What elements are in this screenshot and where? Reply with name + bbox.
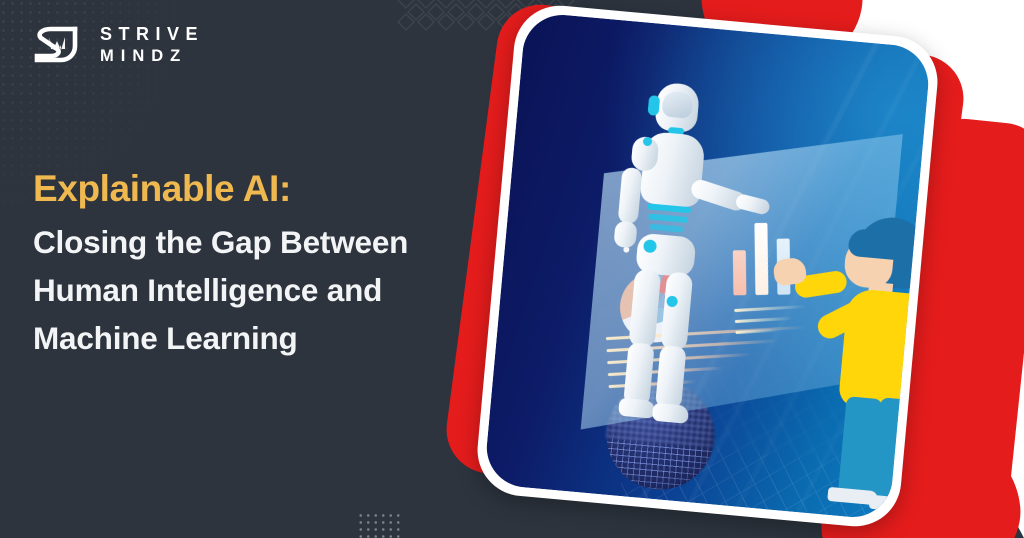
blog-banner: STRIVE MINDZ Explainable AI: Closing the… [0, 0, 1024, 538]
logo-wordmark: STRIVE MINDZ [100, 25, 204, 65]
card-inner-scene [483, 12, 931, 521]
brand-logo[interactable]: STRIVE MINDZ [31, 24, 204, 66]
headline-lead: Explainable AI: [33, 166, 483, 211]
page-title: Explainable AI: Closing the Gap Between … [33, 166, 483, 363]
strive-mindz-sm-monogram-icon [31, 24, 87, 66]
ai-explainability-illustration [474, 2, 942, 530]
logo-line-mindz: MINDZ [100, 48, 204, 65]
logo-line-strive: STRIVE [100, 25, 204, 43]
scene-contents [483, 12, 931, 521]
headline-rest: Closing the Gap Between Human Intelligen… [33, 219, 483, 363]
